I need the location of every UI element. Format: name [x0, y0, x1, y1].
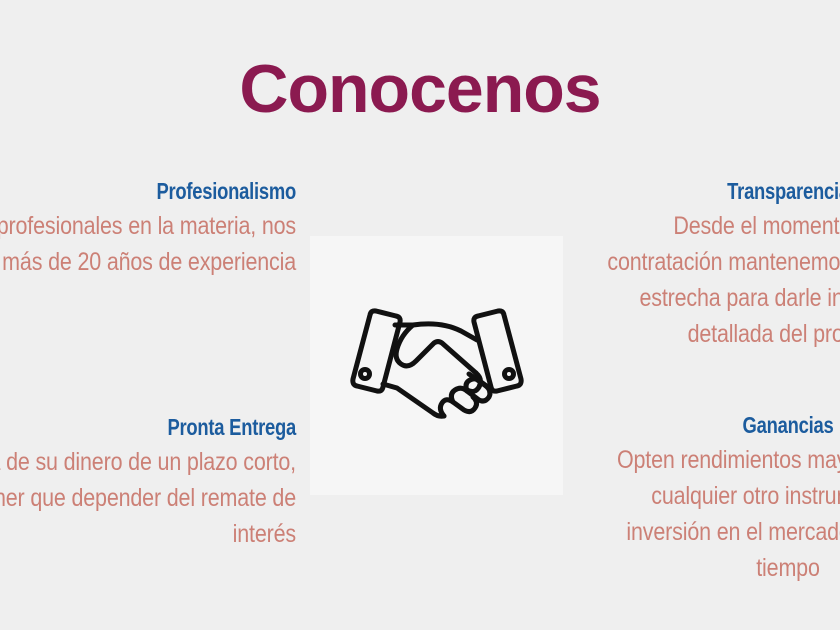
feature-heading-transparencia: Transparencia — [620, 178, 840, 204]
feature-heading-entrega: Pronta Entrega — [0, 414, 296, 440]
feature-heading-ganancias: Ganancias — [620, 412, 840, 438]
slide-canvas: Conocenos Profesionalismo Somos profesio… — [0, 0, 840, 630]
feature-body-line: Disponga de su dinero de un plazo corto, — [0, 444, 296, 480]
feature-block-ganancias: Ganancias Opten rendimientos mayores que… — [578, 412, 840, 586]
page-title: Conocenos — [0, 50, 840, 128]
feature-block-profesionalismo: Profesionalismo Somos profesionales en l… — [0, 178, 296, 280]
feature-body-profesionalismo: Somos profesionales en la materia, nos a… — [0, 208, 296, 280]
feature-body-line: cualquier otro instrumento de — [607, 478, 840, 514]
feature-body-entrega: Disponga de su dinero de un plazo corto,… — [0, 444, 296, 552]
handshake-icon — [337, 291, 537, 441]
feature-body-line: avalan más de 20 años de experiencia — [0, 244, 296, 280]
feature-block-entrega: Pronta Entrega Disponga de su dinero de … — [0, 414, 296, 552]
feature-body-line: detallada del proceso — [607, 316, 840, 352]
feature-body-line: estrecha para darle información — [607, 280, 840, 316]
feature-heading-profesionalismo: Profesionalismo — [0, 178, 296, 204]
feature-body-line: Opten rendimientos mayores que en — [607, 442, 840, 478]
feature-block-transparencia: Transparencia Desde el momento de la con… — [578, 178, 840, 352]
feature-body-line: interés — [0, 516, 296, 552]
feature-body-line: inversión en el mercado en menos — [607, 514, 840, 550]
feature-body-line: tiempo — [607, 550, 840, 586]
feature-body-transparencia: Desde el momento de la contratación mant… — [607, 208, 840, 352]
feature-body-line: sin tener que depender del remate de — [0, 480, 296, 516]
feature-body-line: Somos profesionales en la materia, nos — [0, 208, 296, 244]
center-image-card — [310, 236, 563, 495]
feature-body-line: contratación mantenemos comunicación — [607, 244, 840, 280]
feature-body-ganancias: Opten rendimientos mayores que en cualqu… — [607, 442, 840, 586]
feature-body-line: Desde el momento de la — [607, 208, 840, 244]
